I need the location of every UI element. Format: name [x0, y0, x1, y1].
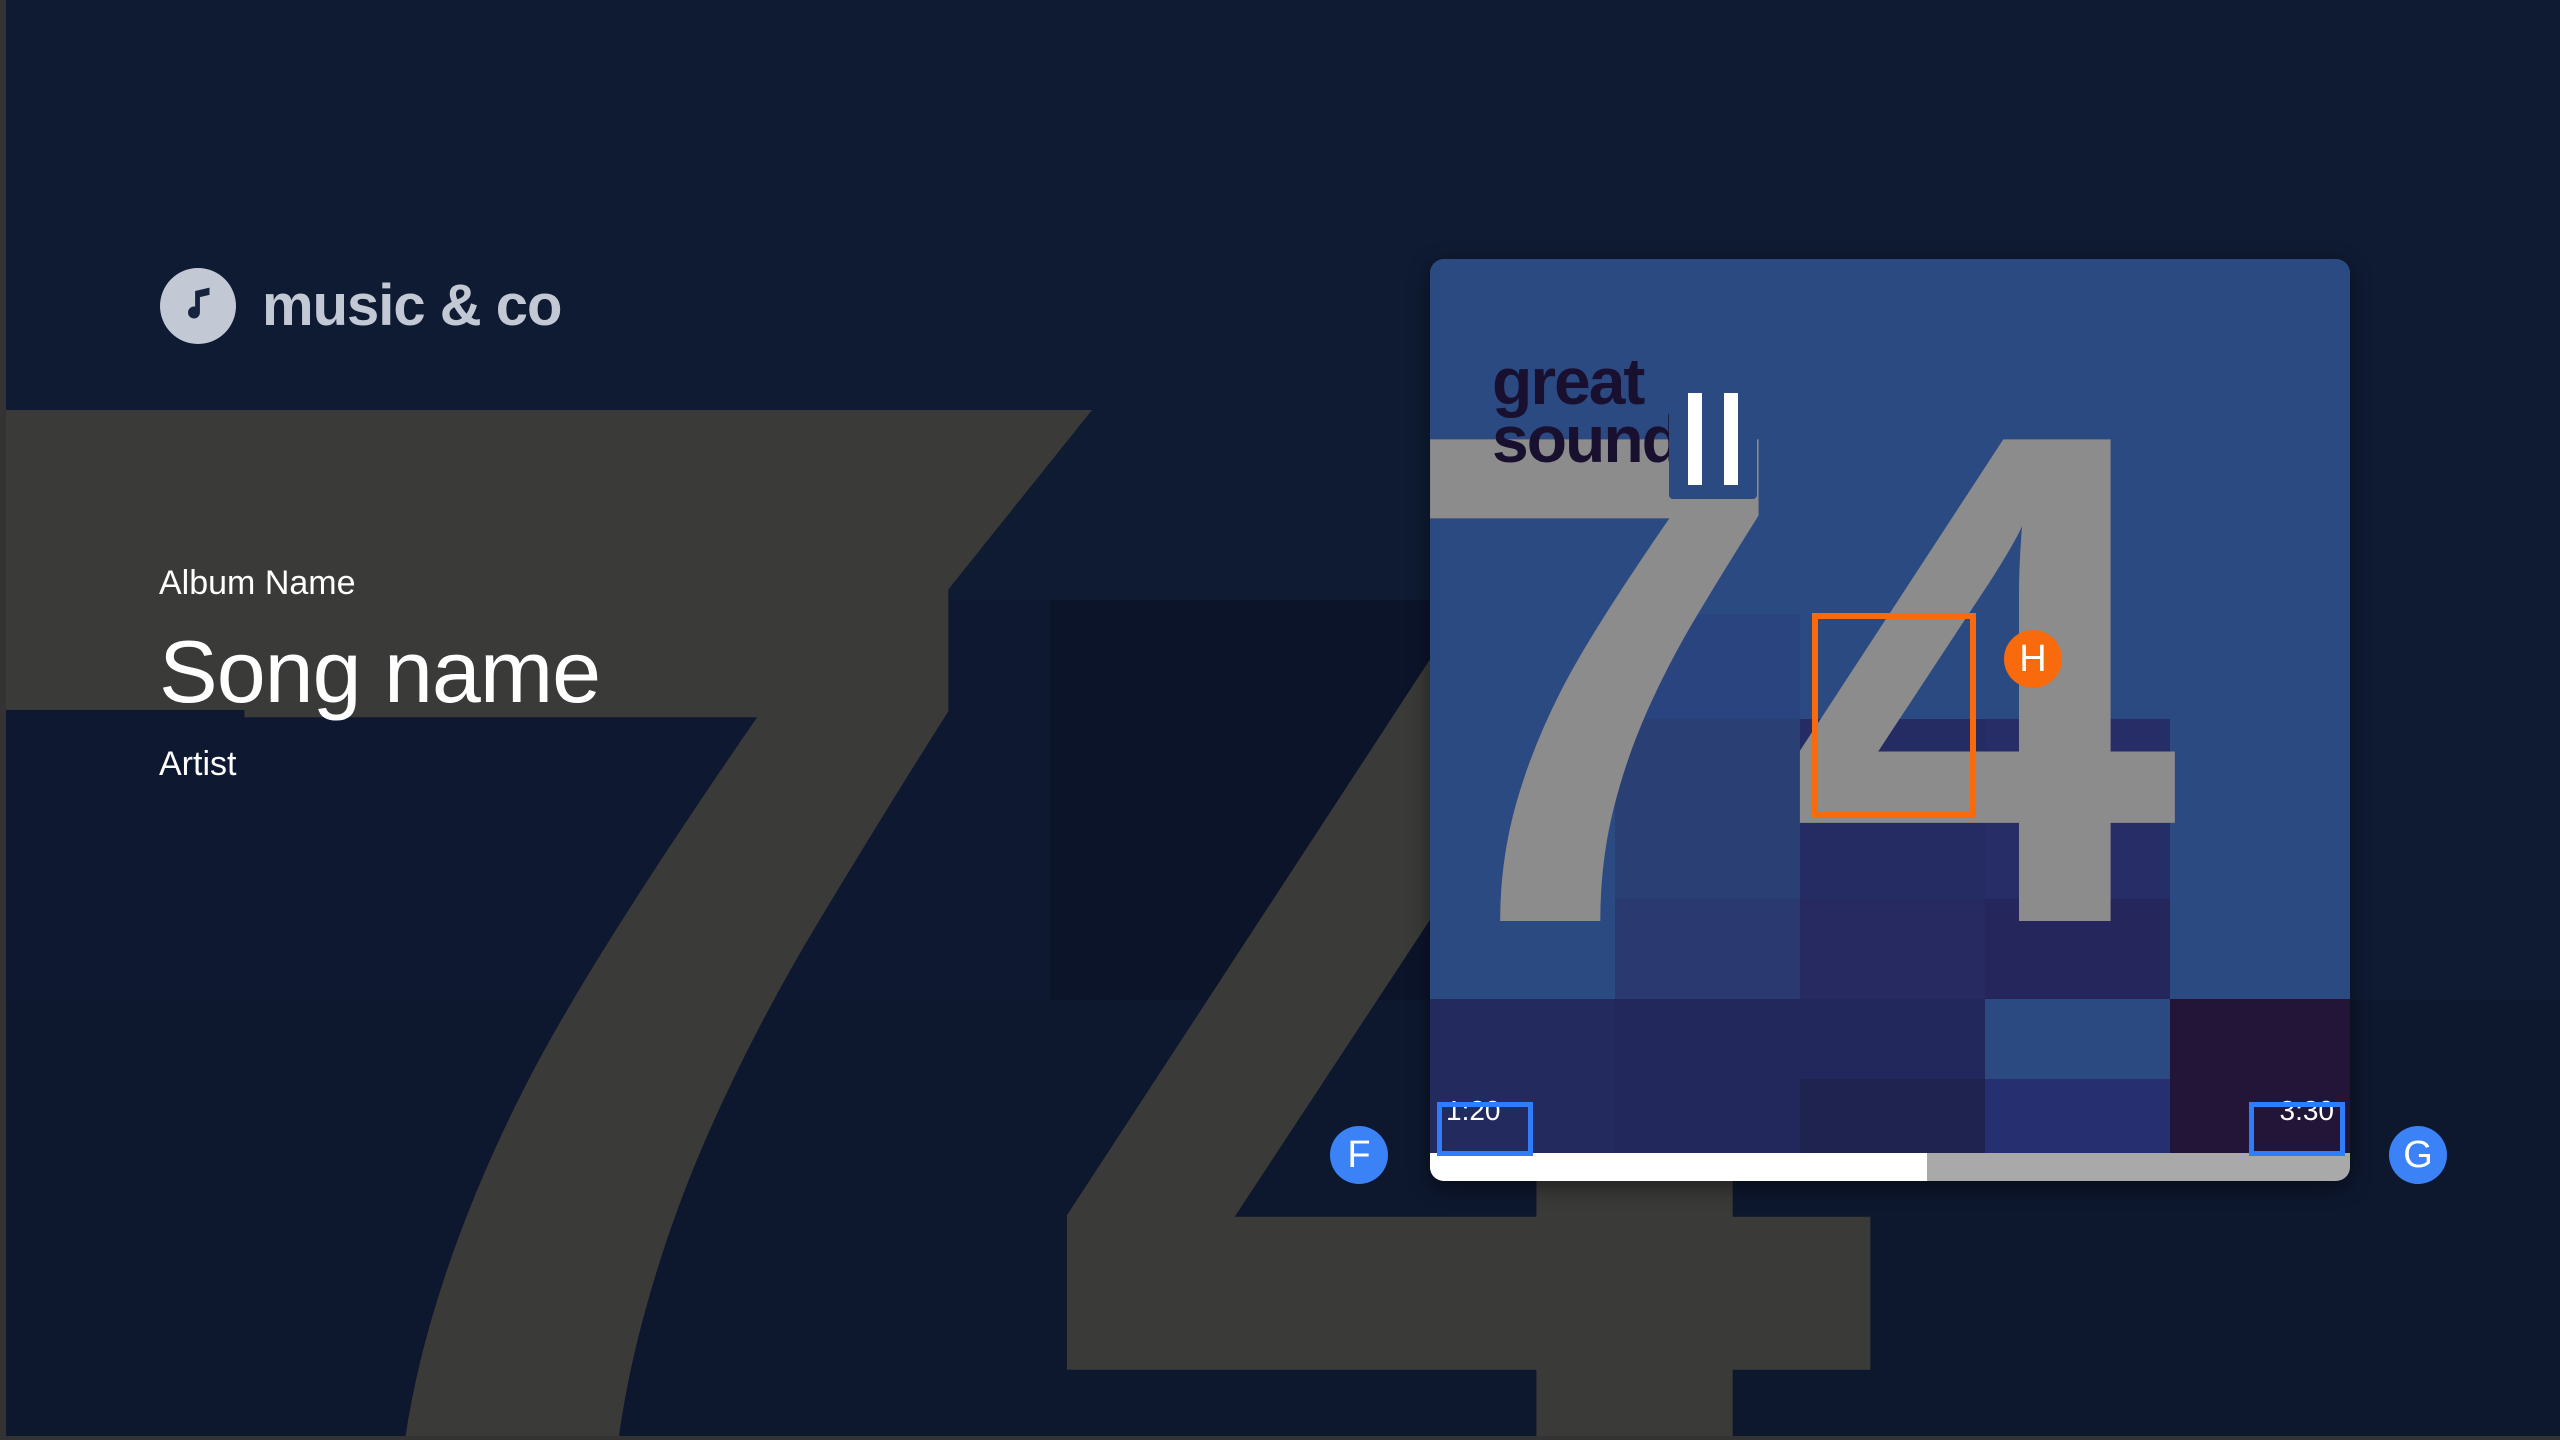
pause-bar-left [1688, 393, 1702, 485]
app-stage: 74 music & co Album Name Song name Artis… [0, 0, 2560, 1440]
annotation-badge-g: G [2389, 1126, 2447, 1184]
progress-bar-fill [1430, 1153, 1927, 1181]
brand-logo[interactable]: music & co [160, 268, 561, 344]
progress-bar[interactable] [1430, 1153, 2350, 1181]
frame-edge-left [0, 0, 6, 1440]
artist-name: Artist [159, 746, 1059, 783]
total-time-label: 3:30 [2280, 1097, 2335, 1125]
now-playing-meta: Album Name Song name Artist [159, 565, 1059, 784]
annotation-badge-h: H [2004, 630, 2062, 688]
current-time-label: 1:20 [1446, 1097, 1501, 1125]
frame-edge-bottom [0, 1436, 2560, 1440]
music-note-icon [160, 268, 236, 344]
album-art-card[interactable]: 74 great sounds. 1:20 3:30 [1430, 259, 2350, 1181]
pause-button[interactable] [1669, 379, 1757, 499]
brand-name: music & co [262, 277, 561, 335]
song-title: Song name [159, 628, 1059, 716]
annotation-badge-f: F [1330, 1126, 1388, 1184]
album-name-label: Album Name [159, 565, 1059, 602]
pause-bar-right [1724, 393, 1738, 485]
